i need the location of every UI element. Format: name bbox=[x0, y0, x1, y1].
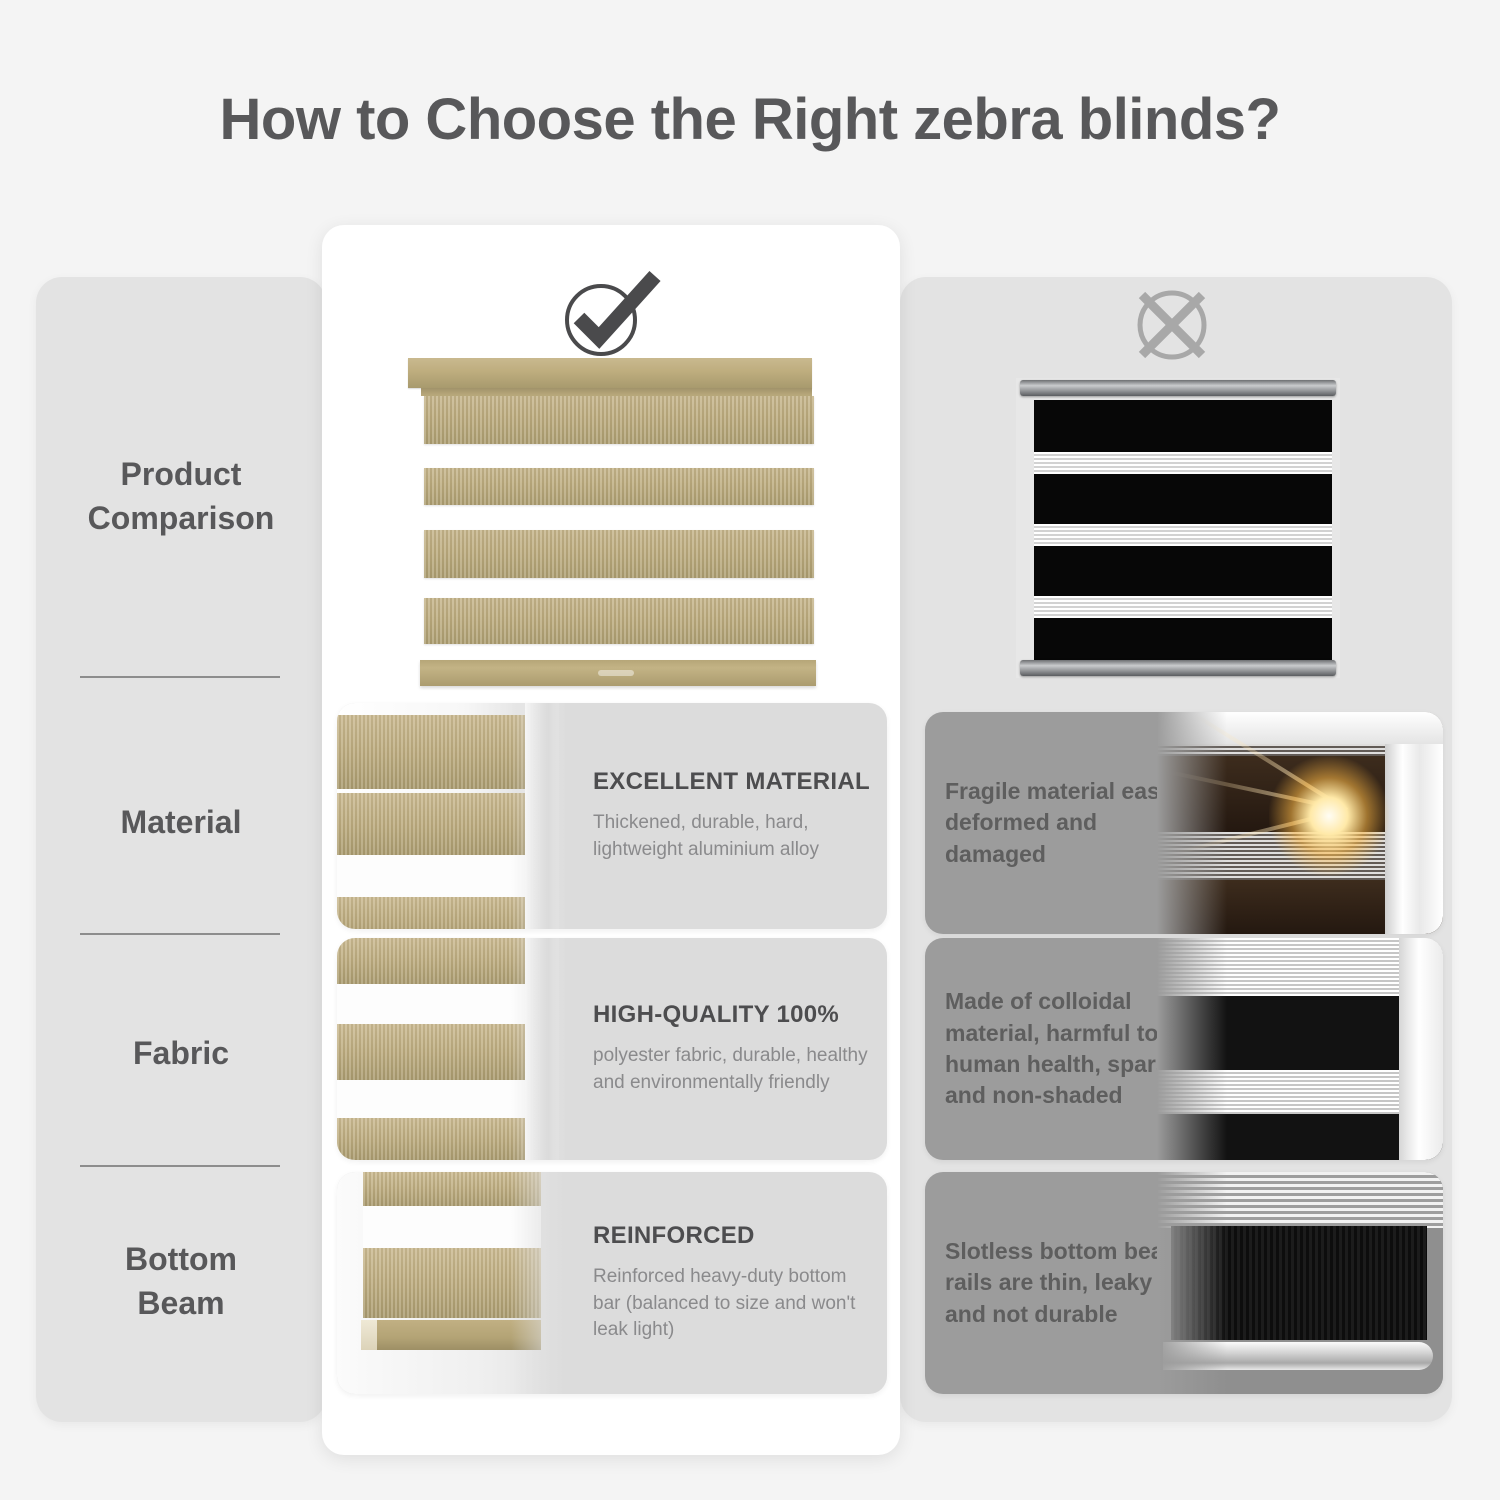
thin-bottom-rail bbox=[1163, 1342, 1433, 1370]
blind-fabric-band bbox=[337, 938, 533, 984]
good-feature-card-material: EXCELLENT MATERIAL Thickened, durable, h… bbox=[337, 703, 887, 929]
feature-heading: HIGH-QUALITY 100% bbox=[593, 1001, 879, 1029]
bad-feature-card-fabric: Made of colloidal material, harmful to h… bbox=[925, 938, 1443, 1160]
blind-blackout-band bbox=[1034, 618, 1332, 660]
good-feature-card-fabric: HIGH-QUALITY 100% polyester fabric, dura… bbox=[337, 938, 887, 1160]
bad-fabric-photo bbox=[1157, 938, 1443, 1160]
light-leak-scene bbox=[1157, 712, 1443, 934]
row-divider-3 bbox=[80, 1165, 280, 1167]
row-label-material: Material bbox=[36, 800, 326, 844]
blind-fabric-band bbox=[424, 530, 814, 578]
window-frame-top bbox=[1157, 712, 1443, 744]
window-frame-post bbox=[525, 703, 559, 929]
blind-headrail bbox=[1020, 380, 1336, 396]
bad-feature-card-bottom-beam: Slotless bottom beam rails are thin, lea… bbox=[925, 1172, 1443, 1394]
reinforced-bottom-bar bbox=[363, 1320, 541, 1350]
cross-circle-icon bbox=[1124, 282, 1220, 368]
good-material-photo bbox=[337, 703, 567, 929]
row-label-line-1: Product bbox=[36, 452, 326, 496]
feature-heading: REINFORCED bbox=[593, 1222, 879, 1250]
blind-sheer-gap bbox=[337, 855, 533, 897]
bad-bottom-beam-photo bbox=[1157, 1172, 1443, 1394]
good-fabric-text: HIGH-QUALITY 100% polyester fabric, dura… bbox=[593, 938, 879, 1160]
window-frame bbox=[1399, 938, 1443, 1160]
page-title: How to Choose the Right zebra blinds? bbox=[0, 86, 1500, 153]
blind-fabric-band bbox=[363, 1172, 541, 1206]
blind-sheer-gap bbox=[363, 1206, 541, 1248]
thin-rail-scene bbox=[1157, 1172, 1443, 1394]
blind-fabric-band bbox=[337, 1118, 533, 1160]
blind-bottom-rail bbox=[1020, 660, 1336, 676]
blind-sheer-band bbox=[1034, 452, 1332, 474]
blind-sheer-band bbox=[1034, 524, 1332, 546]
sunburst-glare bbox=[1269, 756, 1389, 876]
feature-body: Reinforced heavy-duty bottom bar (balanc… bbox=[593, 1264, 879, 1345]
blind-blackout-band bbox=[1034, 546, 1332, 596]
blind-fabric-band bbox=[424, 598, 814, 644]
bad-material-photo bbox=[1157, 712, 1443, 934]
sparse-fabric-scene bbox=[1157, 938, 1443, 1160]
row-label-product-comparison: Product Comparison bbox=[36, 452, 326, 540]
feature-heading: EXCELLENT MATERIAL bbox=[593, 768, 879, 796]
window-frame-post bbox=[525, 938, 559, 1160]
blind-headrail bbox=[408, 358, 812, 388]
row-label-bottom-beam: Bottom Beam bbox=[36, 1237, 326, 1325]
bottom-bar-end-cap bbox=[361, 1320, 377, 1350]
good-fabric-photo bbox=[337, 938, 567, 1160]
window-frame bbox=[1385, 712, 1443, 934]
bad-feature-card-material: Fragile material easily deformed and dam… bbox=[925, 712, 1443, 934]
blind-fabric-band bbox=[337, 793, 533, 855]
blind-blackout-band bbox=[1034, 400, 1332, 452]
check-circle-icon bbox=[555, 268, 665, 360]
blind-blackout-panel bbox=[1171, 1226, 1427, 1340]
blind-fabric-band bbox=[337, 1024, 533, 1080]
row-label-line-2: Beam bbox=[36, 1281, 326, 1325]
blind-bottom-beam bbox=[420, 660, 816, 686]
row-label-fabric: Fabric bbox=[36, 1031, 326, 1075]
good-material-text: EXCELLENT MATERIAL Thickened, durable, h… bbox=[593, 703, 879, 929]
feature-body: polyester fabric, durable, healthy and e… bbox=[593, 1043, 879, 1097]
good-bottom-beam-photo bbox=[337, 1172, 567, 1394]
good-feature-card-bottom-beam: REINFORCED Reinforced heavy-duty bottom … bbox=[337, 1172, 887, 1394]
row-divider-1 bbox=[80, 676, 280, 678]
bad-product-hero-image bbox=[1016, 378, 1340, 678]
blind-blackout-band bbox=[1034, 474, 1332, 524]
blind-fabric-band bbox=[424, 468, 814, 505]
blind-sheer-gap bbox=[337, 1080, 533, 1118]
blind-fabric-band bbox=[337, 897, 533, 929]
blind-slats bbox=[1157, 1172, 1443, 1228]
blind-fabric-band bbox=[363, 1248, 541, 1318]
row-label-line-2: Comparison bbox=[36, 496, 326, 540]
row-divider-2 bbox=[80, 933, 280, 935]
blind-sheer-band bbox=[1034, 596, 1332, 618]
blind-sheer-gap bbox=[337, 984, 533, 1024]
row-label-line-1: Bottom bbox=[36, 1237, 326, 1281]
blind-headrail-closeup bbox=[337, 715, 533, 789]
feature-body: Thickened, durable, hard, lightweight al… bbox=[593, 810, 879, 864]
good-bottom-beam-text: REINFORCED Reinforced heavy-duty bottom … bbox=[593, 1172, 879, 1394]
good-product-hero-image bbox=[408, 358, 816, 698]
blind-fabric-band bbox=[424, 396, 814, 444]
